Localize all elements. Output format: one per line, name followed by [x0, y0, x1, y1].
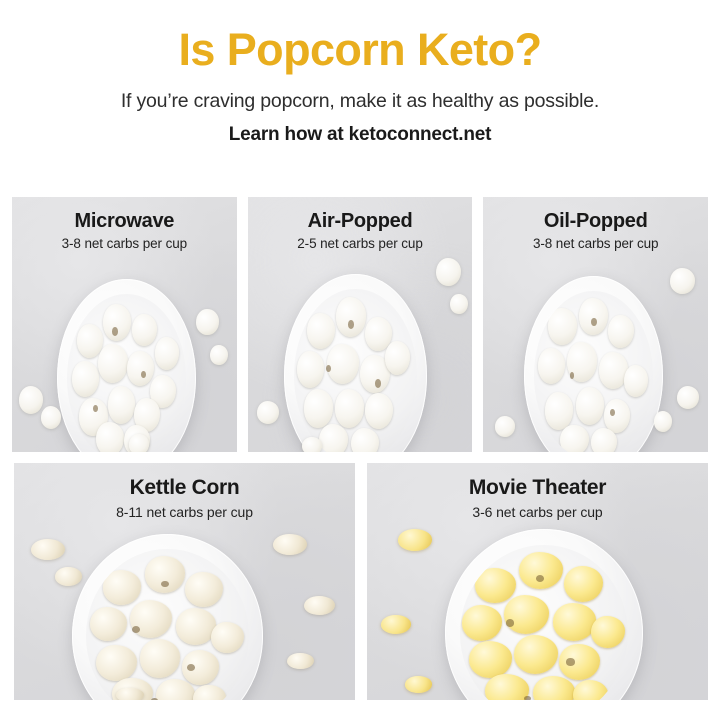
popcorn-kernels [67, 294, 185, 453]
card-kettle-corn: Kettle Corn 8-11 net carbs per cup [14, 463, 355, 700]
card-air-popped: Air-Popped 2-5 net carbs per cup [248, 197, 473, 452]
bowl-interior [534, 291, 652, 452]
popcorn-kernels [460, 545, 628, 700]
grid-row-top: Microwave 3-8 net carbs per cup [0, 197, 720, 452]
popcorn-bowl [284, 274, 428, 453]
popcorn-kernels [86, 549, 248, 700]
popcorn-type-grid: Microwave 3-8 net carbs per cup [0, 197, 720, 700]
popcorn-keto-infographic: Is Popcorn Keto? If you’re craving popco… [0, 0, 720, 720]
popcorn-bowl [445, 529, 643, 700]
bowl-interior [294, 289, 416, 452]
bowl-interior [86, 549, 248, 700]
popcorn-photo-movie-theater [367, 463, 708, 700]
popcorn-photo-kettle-corn [14, 463, 355, 700]
popcorn-bowl [57, 279, 196, 452]
header: Is Popcorn Keto? If you’re craving popco… [0, 0, 720, 146]
card-oil-popped: Oil-Popped 3-8 net carbs per cup [483, 197, 708, 452]
card-movie-theater: Movie Theater 3-6 net carbs per cup [367, 463, 708, 700]
popcorn-bowl [72, 534, 263, 700]
card-microwave: Microwave 3-8 net carbs per cup [12, 197, 237, 452]
popcorn-bowl [524, 276, 663, 452]
grid-row-bottom: Kettle Corn 8-11 net carbs per cup [0, 452, 720, 700]
bowl-interior [67, 294, 185, 453]
bowl-interior [460, 545, 628, 700]
page-subtitle: If you’re craving popcorn, make it as he… [0, 90, 720, 113]
popcorn-photo-air-popped [248, 197, 473, 452]
popcorn-kernels [294, 289, 416, 452]
page-title: Is Popcorn Keto? [0, 26, 720, 73]
cta-line: Learn how at ketoconnect.net [0, 124, 720, 146]
popcorn-photo-oil-popped [483, 197, 708, 452]
popcorn-kernels [534, 291, 652, 452]
popcorn-photo-microwave [12, 197, 237, 452]
